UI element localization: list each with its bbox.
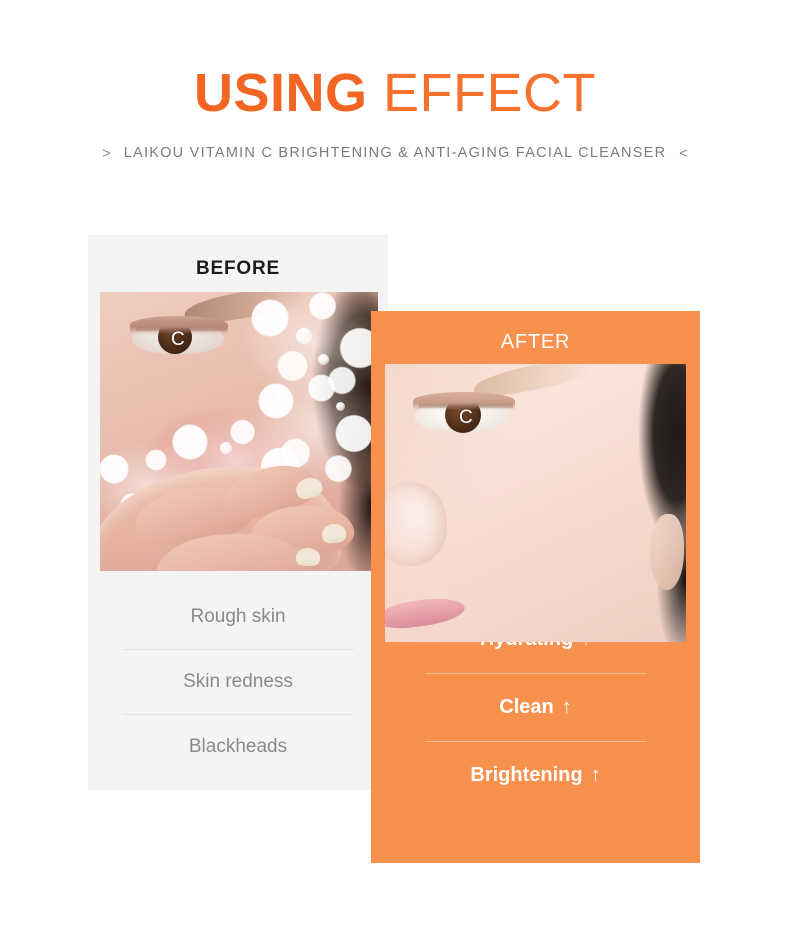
list-item: Skin redness [88, 650, 388, 714]
arrow-up-icon: ↑ [591, 764, 601, 786]
after-card-heading: AFTER [371, 331, 700, 354]
page-title-strong: USING [194, 63, 368, 123]
after-nose [385, 482, 447, 566]
foam-bubble [296, 328, 312, 344]
list-item-label: Clean [499, 696, 553, 718]
list-item: Rough skin [88, 585, 388, 649]
before-card-heading: BEFORE [88, 258, 388, 280]
before-issue-list: Rough skin Skin redness Blackheads [88, 585, 388, 779]
page-subtitle: LAIKOU VITAMIN C BRIGHTENING & ANTI-AGIN… [124, 145, 667, 161]
chevron-left-icon: > [102, 146, 111, 161]
list-item-label: Brightening [470, 764, 582, 786]
fingernail [296, 548, 321, 567]
before-photo: C [100, 292, 378, 571]
page-title: USING EFFECT [0, 62, 790, 124]
foam-bubble [276, 388, 289, 401]
list-item: Clean↑ [371, 674, 700, 741]
watermark-c-icon: C [171, 330, 185, 349]
page-header: USING EFFECT > LAIKOU VITAMIN C BRIGHTEN… [0, 62, 790, 161]
chevron-right-icon: < [679, 146, 688, 161]
page-subtitle-row: > LAIKOU VITAMIN C BRIGHTENING & ANTI-AG… [0, 145, 790, 161]
after-ear [650, 514, 684, 590]
page-title-light: EFFECT [383, 63, 596, 123]
arrow-up-icon: ↑ [562, 696, 572, 718]
foam-bubble [220, 442, 232, 454]
watermark-c-icon: C [459, 408, 473, 427]
list-item: Blackheads [88, 715, 388, 779]
foam-bubble [318, 354, 329, 365]
foam-bubble [336, 402, 345, 411]
after-photo: C [385, 364, 686, 642]
list-item: Brightening↑ [371, 742, 700, 809]
